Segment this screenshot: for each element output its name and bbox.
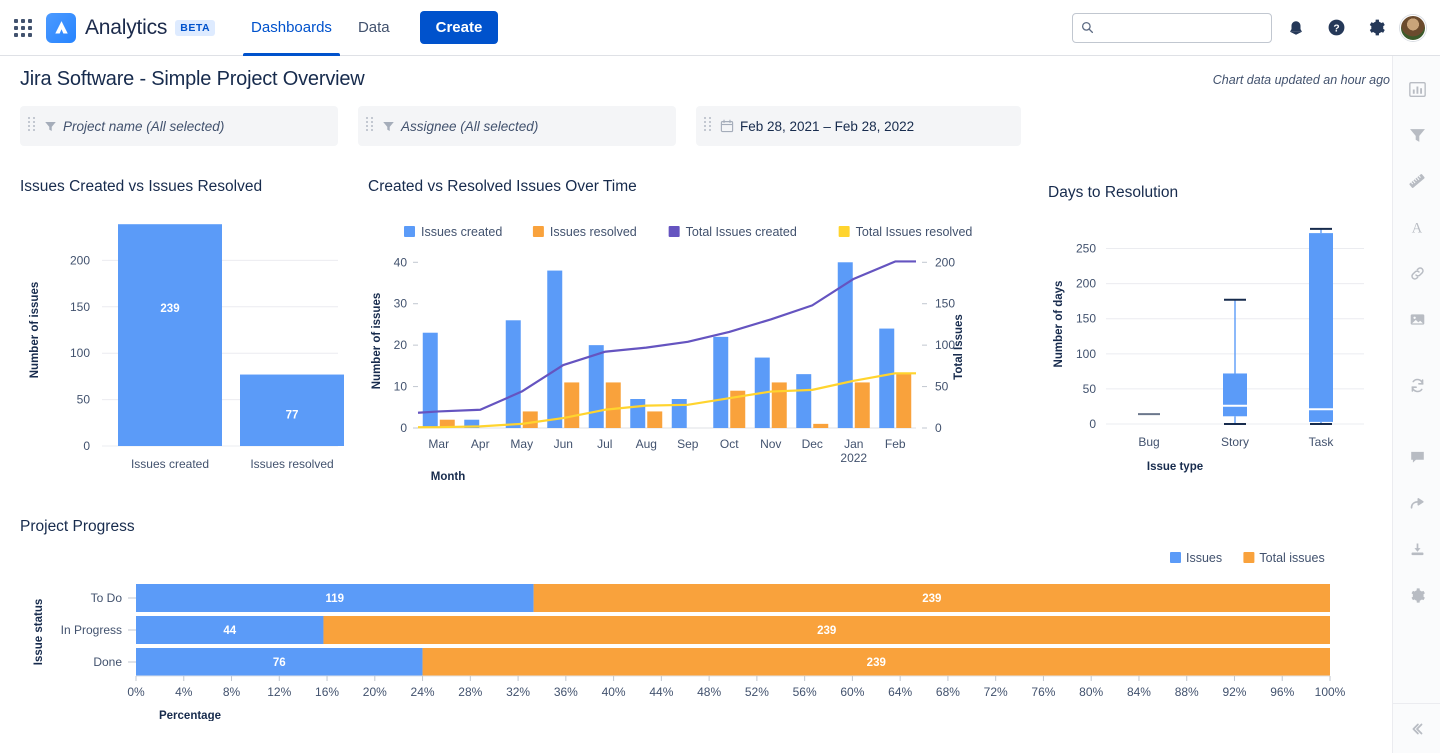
svg-text:Number of days: Number of days <box>1053 281 1065 368</box>
svg-text:Jul: Jul <box>597 437 612 451</box>
svg-text:20: 20 <box>394 338 408 352</box>
settings-icon[interactable] <box>1393 572 1440 618</box>
filter-icon <box>382 120 395 133</box>
legend-label: Issues resolved <box>550 225 637 239</box>
svg-text:150: 150 <box>935 297 955 311</box>
svg-text:100: 100 <box>70 346 90 360</box>
bar-resolved-9 <box>813 424 828 428</box>
top-nav-right-actions: ? <box>1072 12 1426 44</box>
svg-text:Issues created: Issues created <box>131 457 209 471</box>
filter-date-range[interactable]: Feb 28, 2021 – Feb 28, 2022 <box>696 106 1021 146</box>
svg-text:Task: Task <box>1309 435 1335 449</box>
svg-text:76%: 76% <box>1031 685 1055 699</box>
svg-text:250: 250 <box>1076 242 1096 256</box>
svg-text:Nov: Nov <box>760 437 781 451</box>
bar-created-0 <box>423 333 438 428</box>
chart-days-to-resolution: Days to Resolution 050100150200250BugSto… <box>1048 184 1388 484</box>
svg-text:A: A <box>1412 220 1423 236</box>
page-title: Jira Software - Simple Project Overview <box>20 68 365 91</box>
chart-created-vs-resolved-over-time: Created vs Resolved Issues Over Time Iss… <box>368 178 1028 478</box>
bar-resolved-3 <box>564 382 579 428</box>
svg-text:84%: 84% <box>1127 685 1151 699</box>
bar-created-2 <box>506 320 521 428</box>
ruler-icon[interactable] <box>1393 158 1440 204</box>
svg-text:119: 119 <box>326 593 345 605</box>
legend-swatch <box>533 226 544 237</box>
bar-resolved-5 <box>647 411 662 428</box>
svg-text:44%: 44% <box>649 685 673 699</box>
share-icon[interactable] <box>1393 480 1440 526</box>
filter-icon <box>44 120 57 133</box>
svg-text:92%: 92% <box>1222 685 1246 699</box>
text-icon[interactable]: A <box>1393 204 1440 250</box>
atlassian-logo-icon[interactable] <box>46 13 76 43</box>
help-icon[interactable]: ? <box>1320 12 1352 44</box>
chart3-canvas[interactable]: 050100150200250BugStoryTaskNumber of day… <box>1048 202 1388 492</box>
legend-swatch <box>669 226 680 237</box>
svg-text:36%: 36% <box>554 685 578 699</box>
svg-text:12%: 12% <box>267 685 291 699</box>
svg-text:Bug: Bug <box>1138 435 1159 449</box>
chart-title: Issues Created vs Issues Resolved <box>20 178 350 196</box>
svg-text:0%: 0% <box>127 685 145 699</box>
svg-text:Issues resolved: Issues resolved <box>250 457 333 471</box>
drag-handle-icon[interactable] <box>28 117 35 135</box>
filter-assignee-label: Assignee (All selected) <box>401 119 538 134</box>
svg-text:72%: 72% <box>984 685 1008 699</box>
filter-project-name[interactable]: Project name (All selected) <box>20 106 338 146</box>
legend-swatch <box>1170 552 1181 563</box>
svg-text:Number of issues: Number of issues <box>371 293 383 390</box>
svg-text:64%: 64% <box>888 685 912 699</box>
download-icon[interactable] <box>1393 526 1440 572</box>
search-icon <box>1081 21 1094 34</box>
svg-text:76: 76 <box>273 657 286 669</box>
svg-text:50: 50 <box>77 393 91 407</box>
legend-label: Total issues <box>1259 551 1324 565</box>
legend-swatch <box>839 226 850 237</box>
chart-project-progress: Project Progress IssuesTotal issues11923… <box>20 518 1380 728</box>
svg-text:30: 30 <box>394 297 408 311</box>
svg-text:Sep: Sep <box>677 437 699 451</box>
svg-text:Issue status: Issue status <box>33 599 45 665</box>
legend-label: Total Issues created <box>686 225 797 239</box>
legend-label: Issues created <box>421 225 502 239</box>
filter-bar: Project name (All selected) Assignee (Al… <box>20 106 1021 146</box>
svg-text:200: 200 <box>70 253 90 267</box>
beta-badge: BETA <box>175 20 215 36</box>
svg-text:150: 150 <box>1076 312 1096 326</box>
svg-text:0: 0 <box>400 421 407 435</box>
bar-0 <box>118 224 222 446</box>
svg-text:200: 200 <box>935 255 955 269</box>
svg-text:52%: 52% <box>745 685 769 699</box>
top-navigation-bar: Analytics BETA Dashboards Data Create ? <box>0 0 1440 56</box>
svg-text:Jun: Jun <box>554 437 573 451</box>
svg-text:239: 239 <box>867 657 886 669</box>
nav-link-dashboards[interactable]: Dashboards <box>243 0 340 56</box>
svg-text:Done: Done <box>93 655 122 669</box>
svg-text:To Do: To Do <box>91 591 123 605</box>
create-button[interactable]: Create <box>420 11 499 44</box>
svg-text:28%: 28% <box>458 685 482 699</box>
filter-assignee[interactable]: Assignee (All selected) <box>358 106 676 146</box>
settings-icon[interactable] <box>1360 12 1392 44</box>
chart1-canvas[interactable]: 050100150200239Issues created77Issues re… <box>20 196 350 476</box>
svg-text:?: ? <box>1333 23 1339 34</box>
svg-text:0: 0 <box>1089 417 1096 431</box>
chart2-canvas[interactable]: Issues createdIssues resolvedTotal Issue… <box>368 196 1028 486</box>
chart-title: Project Progress <box>20 518 1380 536</box>
filter-icon[interactable] <box>1393 112 1440 158</box>
svg-text:Issue type: Issue type <box>1147 461 1203 473</box>
svg-text:Jan: Jan <box>844 437 863 451</box>
bar-resolved-8 <box>772 382 787 428</box>
bar-created-11 <box>879 329 894 428</box>
svg-text:48%: 48% <box>697 685 721 699</box>
svg-text:May: May <box>510 437 533 451</box>
app-switcher-icon[interactable] <box>14 19 32 37</box>
svg-text:150: 150 <box>70 300 90 314</box>
svg-text:60%: 60% <box>840 685 864 699</box>
collapse-left-icon[interactable] <box>1393 703 1440 753</box>
svg-text:Apr: Apr <box>471 437 490 451</box>
svg-text:2022: 2022 <box>840 451 867 465</box>
svg-text:32%: 32% <box>506 685 530 699</box>
bar-resolved-4 <box>606 382 621 428</box>
svg-text:96%: 96% <box>1270 685 1294 699</box>
svg-text:56%: 56% <box>793 685 817 699</box>
svg-text:8%: 8% <box>223 685 241 699</box>
legend-label: Total Issues resolved <box>856 225 973 239</box>
svg-text:239: 239 <box>817 625 836 637</box>
avatar[interactable] <box>1400 15 1426 41</box>
svg-text:88%: 88% <box>1175 685 1199 699</box>
legend-swatch <box>1243 552 1254 563</box>
svg-text:Total Issues: Total Issues <box>953 314 965 380</box>
svg-text:Oct: Oct <box>720 437 739 451</box>
notifications-icon[interactable] <box>1280 12 1312 44</box>
svg-text:4%: 4% <box>175 685 193 699</box>
svg-text:40: 40 <box>394 255 408 269</box>
bar-created-9 <box>796 374 811 428</box>
bar-created-4 <box>589 345 604 428</box>
svg-text:Mar: Mar <box>428 437 449 451</box>
image-icon[interactable] <box>1393 296 1440 342</box>
chart-updated-status: Chart data updated an hour ago <box>1213 73 1390 87</box>
svg-text:Dec: Dec <box>802 437 823 451</box>
bar-resolved-10 <box>855 382 870 428</box>
bar-resolved-11 <box>896 374 911 428</box>
svg-text:Percentage: Percentage <box>159 710 221 721</box>
calendar-icon <box>720 119 734 133</box>
svg-text:77: 77 <box>286 410 299 422</box>
svg-text:50: 50 <box>1083 382 1097 396</box>
svg-text:44: 44 <box>223 625 236 637</box>
chart-issues-created-vs-resolved: Issues Created vs Issues Resolved 050100… <box>20 178 350 478</box>
svg-text:0: 0 <box>83 439 90 453</box>
svg-text:10: 10 <box>394 380 408 394</box>
svg-text:40%: 40% <box>602 685 626 699</box>
legend-swatch <box>404 226 415 237</box>
svg-text:Number of issues: Number of issues <box>29 282 41 379</box>
svg-text:Story: Story <box>1221 435 1249 449</box>
filter-project-name-label: Project name (All selected) <box>63 119 224 134</box>
svg-text:80%: 80% <box>1079 685 1103 699</box>
primary-nav: Dashboards Data Create <box>243 0 498 56</box>
chart-title: Created vs Resolved Issues Over Time <box>368 178 1028 196</box>
legend-label: Issues <box>1186 551 1222 565</box>
svg-text:In Progress: In Progress <box>61 623 122 637</box>
bar-created-6 <box>672 399 687 428</box>
svg-text:100%: 100% <box>1315 685 1346 699</box>
svg-text:24%: 24% <box>411 685 435 699</box>
bar-resolved-2 <box>523 411 538 428</box>
bar-created-7 <box>713 337 728 428</box>
svg-text:200: 200 <box>1076 277 1096 291</box>
chart-title: Days to Resolution <box>1048 184 1388 202</box>
refresh-icon[interactable] <box>1393 362 1440 408</box>
chart4-canvas[interactable]: IssuesTotal issues119239To Do44239In Pro… <box>20 536 1380 721</box>
box-Task <box>1309 229 1333 424</box>
svg-text:20%: 20% <box>363 685 387 699</box>
svg-text:Month: Month <box>431 471 465 483</box>
svg-text:16%: 16% <box>315 685 339 699</box>
nav-link-data[interactable]: Data <box>350 0 398 56</box>
drag-handle-icon[interactable] <box>366 117 373 135</box>
chart-icon[interactable] <box>1393 66 1440 112</box>
svg-text:50: 50 <box>935 380 949 394</box>
svg-text:100: 100 <box>1076 347 1096 361</box>
right-toolbar: A <box>1392 56 1440 753</box>
brand-name: Analytics <box>85 16 167 40</box>
comment-icon[interactable] <box>1393 434 1440 480</box>
svg-text:Aug: Aug <box>636 437 657 451</box>
search-input[interactable] <box>1100 20 1263 35</box>
bar-created-3 <box>547 271 562 428</box>
search-box[interactable] <box>1072 13 1272 43</box>
svg-text:Feb: Feb <box>885 437 906 451</box>
drag-handle-icon[interactable] <box>704 117 711 135</box>
svg-text:0: 0 <box>935 421 942 435</box>
svg-text:239: 239 <box>160 303 179 315</box>
bar-created-5 <box>630 399 645 428</box>
filter-date-range-label: Feb 28, 2021 – Feb 28, 2022 <box>740 119 914 134</box>
link-icon[interactable] <box>1393 250 1440 296</box>
svg-text:68%: 68% <box>936 685 960 699</box>
svg-text:239: 239 <box>922 593 941 605</box>
app-root: Analytics BETA Dashboards Data Create ? <box>0 0 1440 753</box>
